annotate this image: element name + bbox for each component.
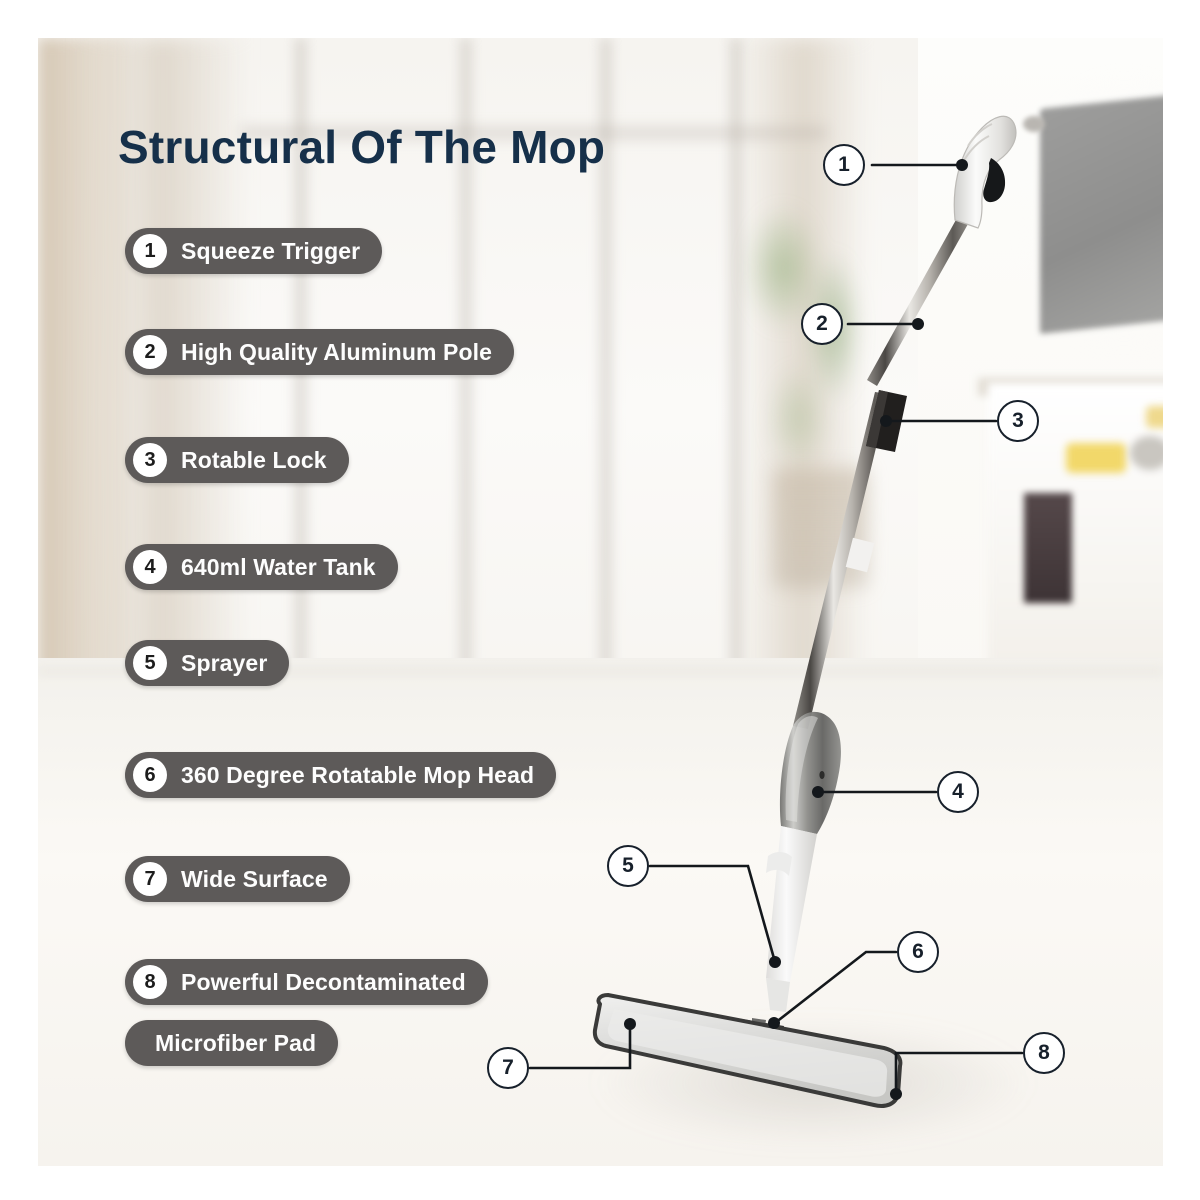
feature-label-1: Squeeze Trigger — [181, 238, 360, 265]
feature-badge-3: 3 — [133, 443, 167, 477]
feature-pill-2[interactable]: 2 High Quality Aluminum Pole — [125, 329, 514, 375]
feature-pill-5[interactable]: 5 Sprayer — [125, 640, 289, 686]
feature-label-7: Wide Surface — [181, 866, 328, 893]
callout-marker-8[interactable]: 8 — [1023, 1032, 1065, 1074]
feature-badge-7: 7 — [133, 862, 167, 896]
feature-badge-2: 2 — [133, 335, 167, 369]
feature-pill-6[interactable]: 6 360 Degree Rotatable Mop Head — [125, 752, 556, 798]
callout-marker-6[interactable]: 6 — [897, 931, 939, 973]
feature-label-4: 640ml Water Tank — [181, 554, 376, 581]
sprayer-part — [766, 826, 817, 1012]
feature-pill-1[interactable]: 1 Squeeze Trigger — [125, 228, 382, 274]
callout-marker-7[interactable]: 7 — [487, 1047, 529, 1089]
microfiber-pad-part — [595, 995, 901, 1106]
handle-grip-part — [954, 116, 1016, 228]
feature-label-8: Powerful Decontaminated — [181, 969, 466, 996]
feature-pill-4[interactable]: 4 640ml Water Tank — [125, 544, 398, 590]
feature-pill-7[interactable]: 7 Wide Surface — [125, 856, 350, 902]
feature-pill-3[interactable]: 3 Rotable Lock — [125, 437, 349, 483]
callout-marker-1[interactable]: 1 — [823, 144, 865, 186]
callout-marker-5[interactable]: 5 — [607, 845, 649, 887]
page-title: Structural Of The Mop — [118, 120, 605, 174]
aluminum-pole-part — [793, 218, 968, 729]
feature-badge-5: 5 — [133, 646, 167, 680]
feature-pill-8[interactable]: 8 Powerful Decontaminated — [125, 959, 488, 1005]
feature-badge-1: 1 — [133, 234, 167, 268]
infographic-canvas: Structural Of The Mop 1 Squeeze Trigger … — [0, 0, 1200, 1200]
feature-pill-8-continued[interactable]: Microfiber Pad — [125, 1020, 338, 1066]
callout-marker-4[interactable]: 4 — [937, 771, 979, 813]
feature-label-8-continued: Microfiber Pad — [155, 1030, 316, 1057]
feature-label-3: Rotable Lock — [181, 447, 327, 474]
callout-marker-2[interactable]: 2 — [801, 303, 843, 345]
feature-badge-8: 8 — [133, 965, 167, 999]
water-tank-part — [780, 712, 841, 834]
feature-badge-6: 6 — [133, 758, 167, 792]
feature-badge-4: 4 — [133, 550, 167, 584]
feature-label-6: 360 Degree Rotatable Mop Head — [181, 762, 534, 789]
feature-label-2: High Quality Aluminum Pole — [181, 339, 492, 366]
feature-label-5: Sprayer — [181, 650, 267, 677]
callout-marker-3[interactable]: 3 — [997, 400, 1039, 442]
